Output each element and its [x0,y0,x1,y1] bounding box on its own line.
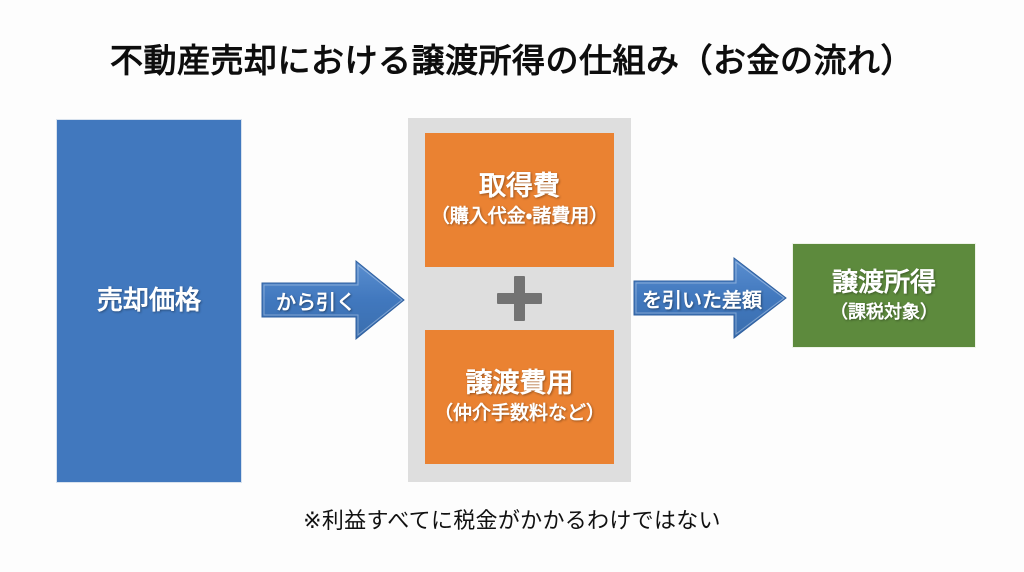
transfer-cost-box: 譲渡費用 （仲介手数料など） [425,330,614,464]
sale-price-box: 売却価格 [56,119,242,483]
arrow-difference-label: を引いた差額 [642,284,762,313]
acquisition-cost-box: 取得費 （購入代金・諸費用） [425,133,614,267]
transfer-cost-label: 譲渡費用 [466,368,574,399]
acquisition-cost-sublabel: （購入代金・諸費用） [431,206,608,229]
arrow-difference: を引いた差額 [630,251,790,345]
sale-price-label: 売却価格 [97,286,201,316]
page-title: 不動産売却における譲渡所得の仕組み（お金の流れ） [0,34,1024,82]
footnote-text: ※利益すべてに税金がかかるわけではない [0,503,1024,535]
capital-gain-label: 譲渡所得 [832,268,936,298]
arrow-subtract: から引く [258,255,408,346]
diagram-canvas: 不動産売却における譲渡所得の仕組み（お金の流れ） 売却価格 から引く 取得費 （… [0,0,1024,572]
arrow-subtract-label: から引く [276,286,356,315]
capital-gain-box: 譲渡所得 （課税対象） [792,243,976,348]
plus-icon [497,276,542,321]
acquisition-cost-label: 取得費 [479,171,560,202]
capital-gain-sublabel: （課税対象） [830,302,938,324]
transfer-cost-sublabel: （仲介手数料など） [434,403,605,426]
